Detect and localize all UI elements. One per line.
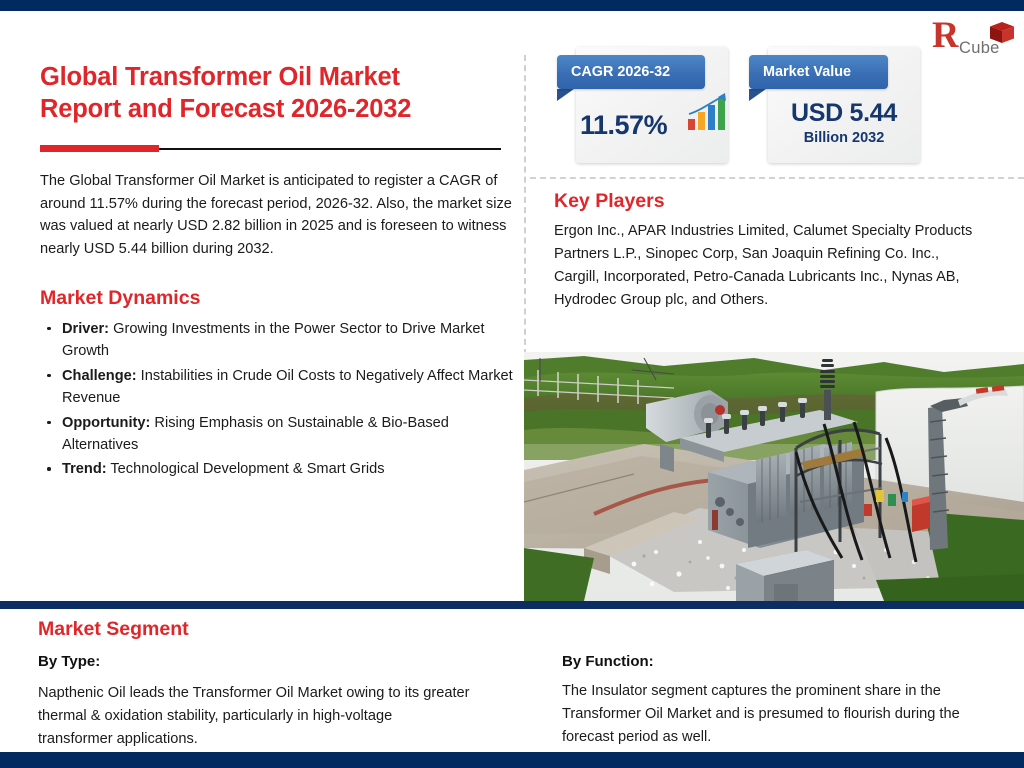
bar-chart-growth-icon — [687, 92, 731, 132]
horizontal-dashed-divider — [530, 177, 1024, 179]
bottom-accent-bar — [0, 752, 1024, 768]
list-item: Opportunity: Rising Emphasis on Sustaina… — [40, 412, 520, 457]
bullet-label: Opportunity: — [62, 415, 150, 431]
bullet-label: Trend: — [62, 461, 107, 477]
by-function-heading: By Function: — [562, 653, 654, 670]
bullet-text: Growing Investments in the Power Sector … — [62, 321, 485, 359]
market-dynamics-list: Driver: Growing Investments in the Power… — [40, 318, 510, 481]
brand-logo[interactable]: Я Cube — [928, 18, 1020, 66]
page-title: Global Transformer Oil Market Report and… — [40, 62, 510, 125]
bullet-text: Technological Development & Smart Grids — [107, 461, 385, 477]
intro-paragraph: The Global Transformer Oil Market is ant… — [40, 170, 512, 260]
divider-red-accent — [40, 145, 159, 152]
logo-mark-icon: Я — [932, 17, 959, 54]
list-item: Driver: Growing Investments in the Power… — [40, 318, 520, 363]
cagr-value: 11.57% — [580, 110, 667, 141]
key-players-text: Ergon Inc., APAR Industries Limited, Cal… — [554, 220, 986, 312]
list-item: Challenge: Instabilities in Crude Oil Co… — [40, 365, 520, 410]
bullet-label: Driver: — [62, 321, 109, 337]
by-type-heading: By Type: — [38, 653, 100, 670]
market-value-amount: USD 5.44 — [768, 99, 920, 128]
key-players-heading: Key Players — [554, 190, 665, 213]
cube-icon — [988, 20, 1018, 50]
title-divider — [40, 144, 501, 153]
market-dynamics-heading: Market Dynamics — [40, 287, 510, 310]
market-value-unit: Billion 2032 — [768, 130, 920, 146]
vertical-dashed-divider — [524, 55, 526, 355]
cagr-ribbon-label: CAGR 2026-32 — [557, 55, 705, 89]
bullet-label: Challenge: — [62, 368, 137, 384]
by-type-text: Napthenic Oil leads the Transformer Oil … — [38, 682, 470, 750]
top-accent-bar — [0, 0, 1024, 11]
left-column: Global Transformer Oil Market Report and… — [40, 62, 510, 483]
market-segment-heading: Market Segment — [38, 618, 189, 641]
power-transformer-substation-photo — [524, 352, 1024, 601]
list-item: Trend: Technological Development & Smart… — [40, 458, 520, 480]
page-title-line2: Report and Forecast 2026-2032 — [40, 95, 411, 123]
page-title-line1: Global Transformer Oil Market — [40, 63, 400, 91]
cagr-ribbon-fold — [557, 89, 574, 101]
mid-accent-bar — [0, 601, 1024, 609]
market-value-ribbon-label: Market Value — [749, 55, 888, 89]
market-value-ribbon-fold — [749, 89, 766, 101]
by-function-text: The Insulator segment captures the promi… — [562, 680, 1002, 748]
